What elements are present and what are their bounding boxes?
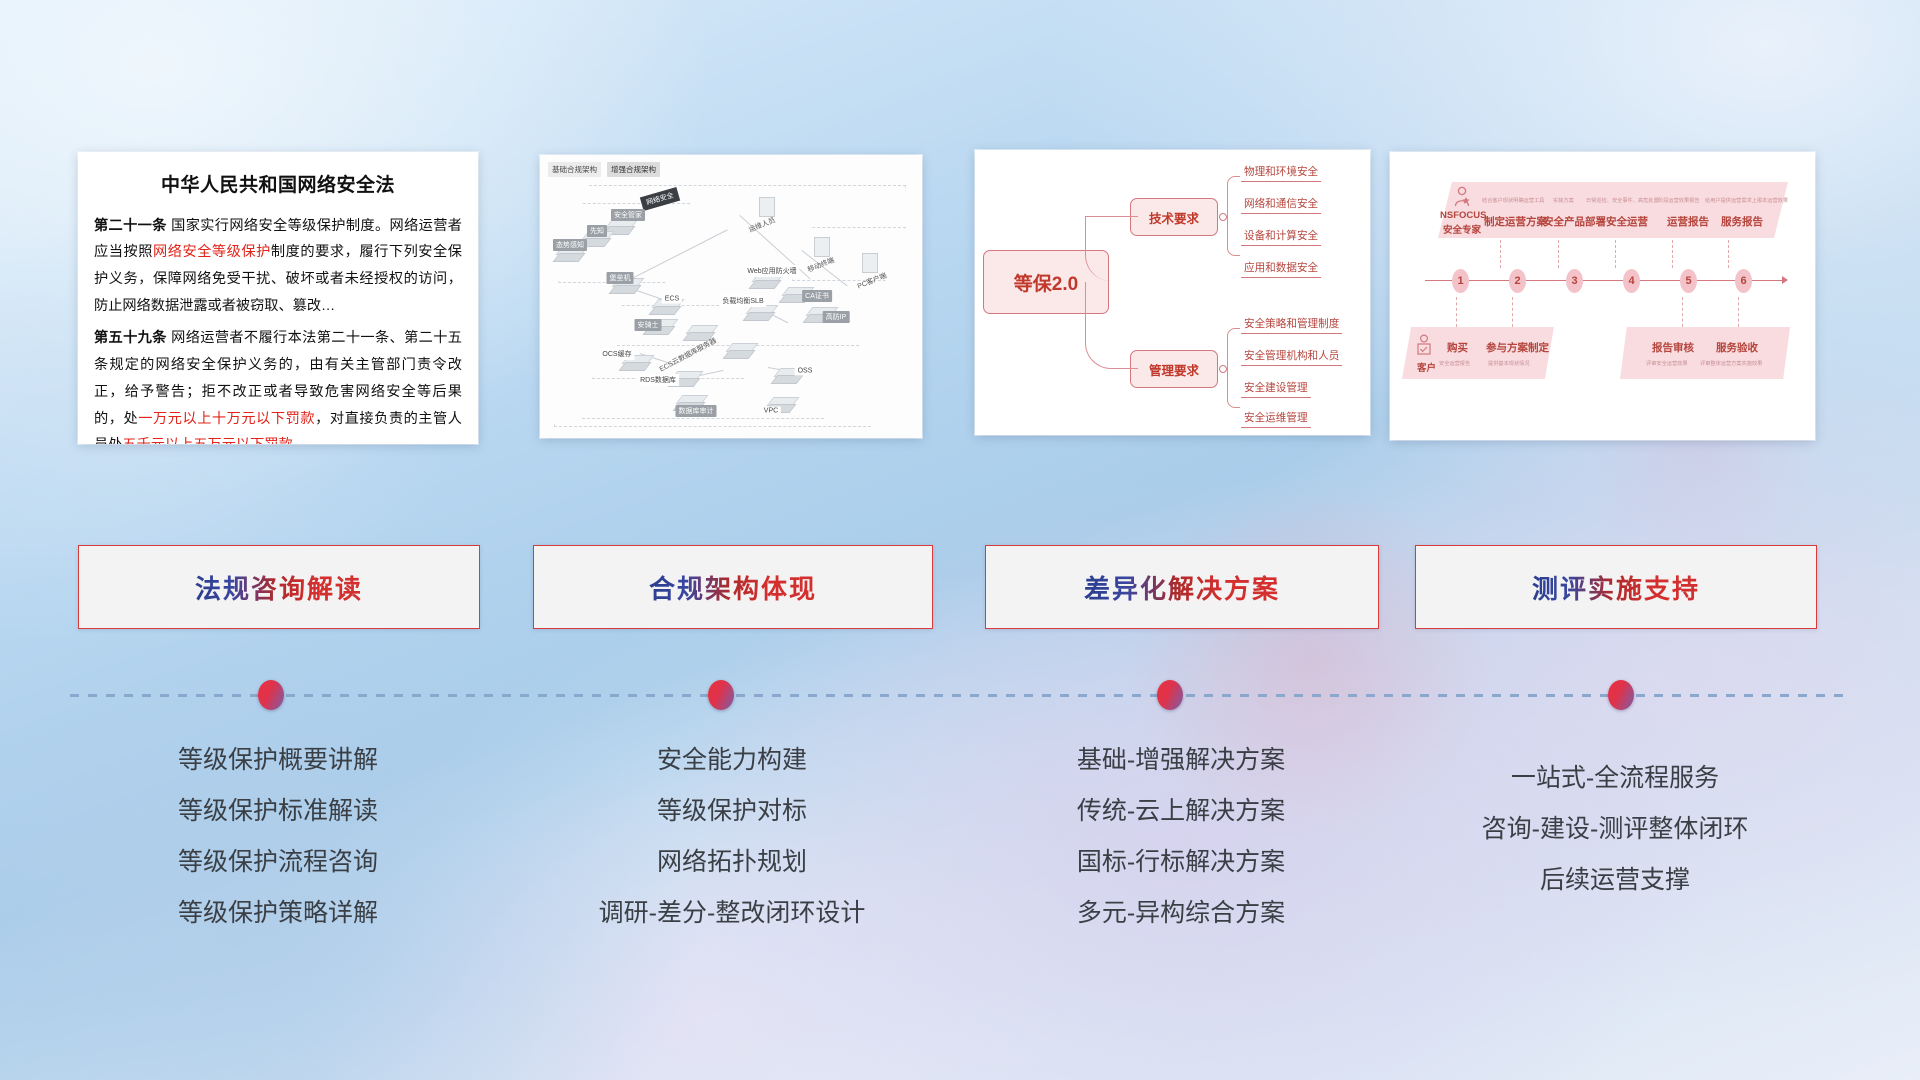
- nsfocus-expert-role-label: 安全专家: [1443, 222, 1481, 236]
- nsfocus-step-3: 3: [1566, 269, 1583, 293]
- arch-label-7: Web应用防火墙: [744, 265, 799, 277]
- nsfocus-top-sub-3: 阶段运营效果报告: [1658, 197, 1700, 204]
- list-item: 网络拓扑规划: [533, 837, 931, 888]
- card-compliance-architecture: 基础合规架构 增强合规架构: [540, 155, 922, 438]
- nsfocus-step-5: 5: [1680, 269, 1697, 293]
- slide-stage: 中华人民共和国网络安全法 第二十一条 国家实行网络安全等级保护制度。网络运营者应…: [0, 0, 1920, 1080]
- mindmap-leaf-m0: 安全策略和管理制度: [1241, 316, 1342, 334]
- nsfocus-dash-bottom-1: [1512, 297, 1513, 327]
- law-article-59-label: 第五十九条: [94, 330, 167, 346]
- nsfocus-timeline-diagram: NSFOCUS 安全专家 制定运营方案 结合客户现状明确运营工具 安全产品部署 …: [1390, 152, 1815, 440]
- nsfocus-dash-top-0: [1500, 240, 1501, 268]
- nsfocus-top-title-4: 服务报告: [1721, 214, 1763, 229]
- law-article-21-highlight: 网络安全等级保护: [153, 244, 271, 260]
- nsfocus-top-title-1: 安全产品部署: [1543, 214, 1606, 229]
- arch-label-11: RDS数据库: [637, 374, 679, 386]
- mindmap-leaf-t0: 物理和环境安全: [1241, 164, 1321, 182]
- detail-list-2: 安全能力构建 等级保护对标 网络拓扑规划 调研-差分-整改闭环设计: [533, 735, 931, 939]
- headline-box-2[interactable]: 合规架构体现: [533, 545, 933, 629]
- list-item: 一站式-全流程服务: [1415, 753, 1815, 804]
- nsfocus-axis-line: [1425, 280, 1785, 281]
- law-article-21-label: 第二十一条: [94, 218, 167, 234]
- node-icon-slb: [749, 305, 775, 321]
- list-item: 等级保护标准解读: [78, 786, 478, 837]
- arch-label-8: CA证书: [802, 290, 832, 302]
- nsfocus-top-title-2: 安全运营: [1606, 214, 1648, 229]
- headline-label-2: 合规架构体现: [649, 569, 817, 606]
- nsfocus-top-title-3: 运营报告: [1667, 214, 1709, 229]
- image-card-row: 中华人民共和国网络安全法 第二十一条 国家实行网络安全等级保护制度。网络运营者应…: [0, 0, 1920, 450]
- nsfocus-step-6: 6: [1735, 269, 1752, 293]
- arch-label-2: 态势感知: [553, 239, 587, 251]
- timeline-knob-2[interactable]: [708, 680, 734, 710]
- arch-label-0: 安全管家: [611, 209, 645, 221]
- timeline-knob-1[interactable]: [258, 680, 284, 710]
- mindmap-leaf-t3: 应用和数据安全: [1241, 260, 1321, 278]
- list-item: 咨询-建设-测评整体闭环: [1415, 804, 1815, 855]
- arch-label-5: ECS: [662, 295, 682, 304]
- list-item: 后续运营支撑: [1415, 855, 1815, 906]
- nsfocus-dash-bottom-2: [1682, 297, 1683, 327]
- nsfocus-customer-role-label: 客户: [1417, 360, 1436, 374]
- list-item: 等级保护对标: [533, 786, 931, 837]
- nsfocus-bottom-title-1: 参与方案制定: [1486, 340, 1549, 355]
- law-text-body: 中华人民共和国网络安全法 第二十一条 国家实行网络安全等级保护制度。网络运营者应…: [78, 152, 478, 444]
- nsfocus-bottom-sub-1: 提供基本现状情况: [1488, 360, 1530, 367]
- list-item: 传统-云上解决方案: [985, 786, 1377, 837]
- nsfocus-dash-top-4: [1728, 240, 1729, 268]
- mindmap-hub-technical: [1219, 213, 1227, 221]
- arch-label-1: 先知: [587, 225, 607, 237]
- tab-basic-architecture[interactable]: 基础合规架构: [548, 162, 601, 177]
- mindmap-branch-management: 管理要求: [1130, 350, 1218, 388]
- nsfocus-dash-bottom-3: [1738, 297, 1739, 327]
- nsfocus-expert-band: [1438, 182, 1788, 238]
- list-item: 基础-增强解决方案: [985, 735, 1377, 786]
- detail-list-row: 等级保护概要讲解 等级保护标准解读 等级保护流程咨询 等级保护策略详解 安全能力…: [0, 735, 1920, 1035]
- arch-label-10: OCS缓存: [599, 348, 634, 360]
- arch-label-9: 高防IP: [823, 311, 850, 323]
- law-title: 中华人民共和国网络安全法: [94, 168, 462, 204]
- card-mindmap-dengbao: 等保2.0 技术要求 管理要求 物理和环境安全 网络和通信安全 设备和计算安全 …: [975, 150, 1370, 435]
- nsfocus-top-sub-2: 日常巡检、安全事件、高危处置: [1586, 197, 1659, 204]
- nsfocus-bottom-sub-2: 评审安全运营效果: [1646, 360, 1688, 367]
- nsfocus-dash-top-1: [1558, 240, 1559, 268]
- mindmap-leaf-m1: 安全管理机构和人员: [1241, 348, 1342, 366]
- nsfocus-top-sub-1: 实装方案: [1553, 197, 1574, 204]
- arch-label-4: 安骑士: [635, 319, 662, 331]
- arch-label-13: OSS: [795, 367, 816, 376]
- timeline-dashed-line: [70, 694, 1850, 697]
- mindmap-fan-technical: [1227, 176, 1240, 256]
- architecture-diagram: 基础合规架构 增强合规架构: [540, 155, 922, 438]
- mindmap-connector-technical: [1085, 216, 1138, 281]
- detail-list-3: 基础-增强解决方案 传统-云上解决方案 国标-行标解决方案 多元-异构综合方案: [985, 735, 1377, 939]
- list-item: 等级保护流程咨询: [78, 837, 478, 888]
- law-article-59: 第五十九条 网络运营者不履行本法第二十一条、第二十五条规定的网络安全保护义务的，…: [94, 325, 462, 444]
- card-cybersecurity-law: 中华人民共和国网络安全法 第二十一条 国家实行网络安全等级保护制度。网络运营者应…: [78, 152, 478, 444]
- headline-box-3[interactable]: 差异化解决方案: [985, 545, 1379, 629]
- headline-box-1[interactable]: 法规咨询解读: [78, 545, 480, 629]
- mindmap-fan-management: [1227, 328, 1240, 408]
- nsfocus-dash-top-3: [1672, 240, 1673, 268]
- node-icon-mobile: [814, 237, 830, 257]
- timeline-knob-4[interactable]: [1608, 680, 1634, 710]
- expert-person-icon: [1452, 186, 1472, 208]
- nsfocus-dash-bottom-0: [1456, 297, 1457, 327]
- mindmap-leaf-m2: 安全建设管理: [1241, 380, 1311, 398]
- headline-box-4[interactable]: 测评实施支持: [1415, 545, 1817, 629]
- headline-label-3: 差异化解决方案: [1084, 569, 1280, 606]
- headline-row: 法规咨询解读 合规架构体现 差异化解决方案 测评实施支持: [0, 545, 1920, 645]
- nsfocus-axis-arrow: [1782, 276, 1788, 284]
- architecture-tabs: 基础合规架构 增强合规架构: [548, 162, 660, 177]
- headline-label-4: 测评实施支持: [1532, 569, 1700, 606]
- detail-list-1: 等级保护概要讲解 等级保护标准解读 等级保护流程咨询 等级保护策略详解: [78, 735, 478, 939]
- arch-label-12: 数据库审计: [676, 405, 717, 417]
- arch-label-3: 堡垒机: [607, 272, 634, 284]
- nsfocus-dash-top-2: [1615, 240, 1616, 268]
- mindmap-leaf-t2: 设备和计算安全: [1241, 228, 1321, 246]
- mindmap-branch-technical: 技术要求: [1130, 198, 1218, 236]
- mindmap-leaf-m3: 安全运维管理: [1241, 410, 1311, 428]
- nsfocus-customer-band-right: [1620, 327, 1790, 379]
- detail-list-4: 一站式-全流程服务 咨询-建设-测评整体闭环 后续运营支撑: [1415, 753, 1815, 906]
- node-icon-pc: [862, 253, 878, 273]
- arch-label-6: 负载均衡SLB: [719, 295, 766, 307]
- node-icon-ecs-3: [729, 343, 755, 359]
- nsfocus-top-sub-4: 给用户提供运营需求上报本运营效果: [1705, 197, 1788, 204]
- tab-enhanced-architecture[interactable]: 增强合规架构: [607, 162, 660, 177]
- list-item: 安全能力构建: [533, 735, 931, 786]
- nsfocus-top-title-0: 制定运营方案: [1484, 214, 1547, 229]
- list-item: 等级保护概要讲解: [78, 735, 478, 786]
- law-article-59-highlight-1: 一万元以上十万元以下罚款: [138, 411, 315, 427]
- nsfocus-step-4: 4: [1623, 269, 1640, 293]
- card-nsfocus-service-flow: NSFOCUS 安全专家 制定运营方案 结合客户现状明确运营工具 安全产品部署 …: [1390, 152, 1815, 440]
- nsfocus-brand-label: NSFOCUS: [1440, 210, 1486, 221]
- nsfocus-bottom-title-2: 报告审核: [1652, 340, 1694, 355]
- headline-label-1: 法规咨询解读: [195, 569, 363, 606]
- nsfocus-bottom-sub-0: 安全运营报告: [1439, 360, 1470, 367]
- nsfocus-bottom-sub-3: 评审整体运营方案实施效果: [1700, 360, 1762, 367]
- mindmap-leaf-t1: 网络和通信安全: [1241, 196, 1321, 214]
- timeline-knob-3[interactable]: [1157, 680, 1183, 710]
- list-item: 等级保护策略详解: [78, 888, 478, 939]
- customer-person-icon: [1415, 334, 1433, 358]
- nsfocus-bottom-title-3: 服务验收: [1716, 340, 1758, 355]
- mindmap-connector-management: [1085, 282, 1138, 369]
- nsfocus-bottom-title-0: 购买: [1447, 340, 1468, 355]
- law-article-59-highlight-2: 五千元以上五万元以下罚款。: [122, 437, 306, 444]
- nsfocus-top-sub-0: 结合客户现状明确运营工具: [1482, 197, 1544, 204]
- nsfocus-step-2: 2: [1509, 269, 1526, 293]
- arch-label-14: VPC: [761, 407, 781, 416]
- list-item: 调研-差分-整改闭环设计: [533, 888, 931, 939]
- nsfocus-step-1: 1: [1452, 269, 1469, 293]
- law-article-21: 第二十一条 国家实行网络安全等级保护制度。网络运营者应当按照网络安全等级保护制度…: [94, 213, 462, 320]
- list-item: 国标-行标解决方案: [985, 837, 1377, 888]
- mindmap-hub-management: [1219, 365, 1227, 373]
- mindmap-diagram: 等保2.0 技术要求 管理要求 物理和环境安全 网络和通信安全 设备和计算安全 …: [975, 150, 1370, 435]
- list-item: 多元-异构综合方案: [985, 888, 1377, 939]
